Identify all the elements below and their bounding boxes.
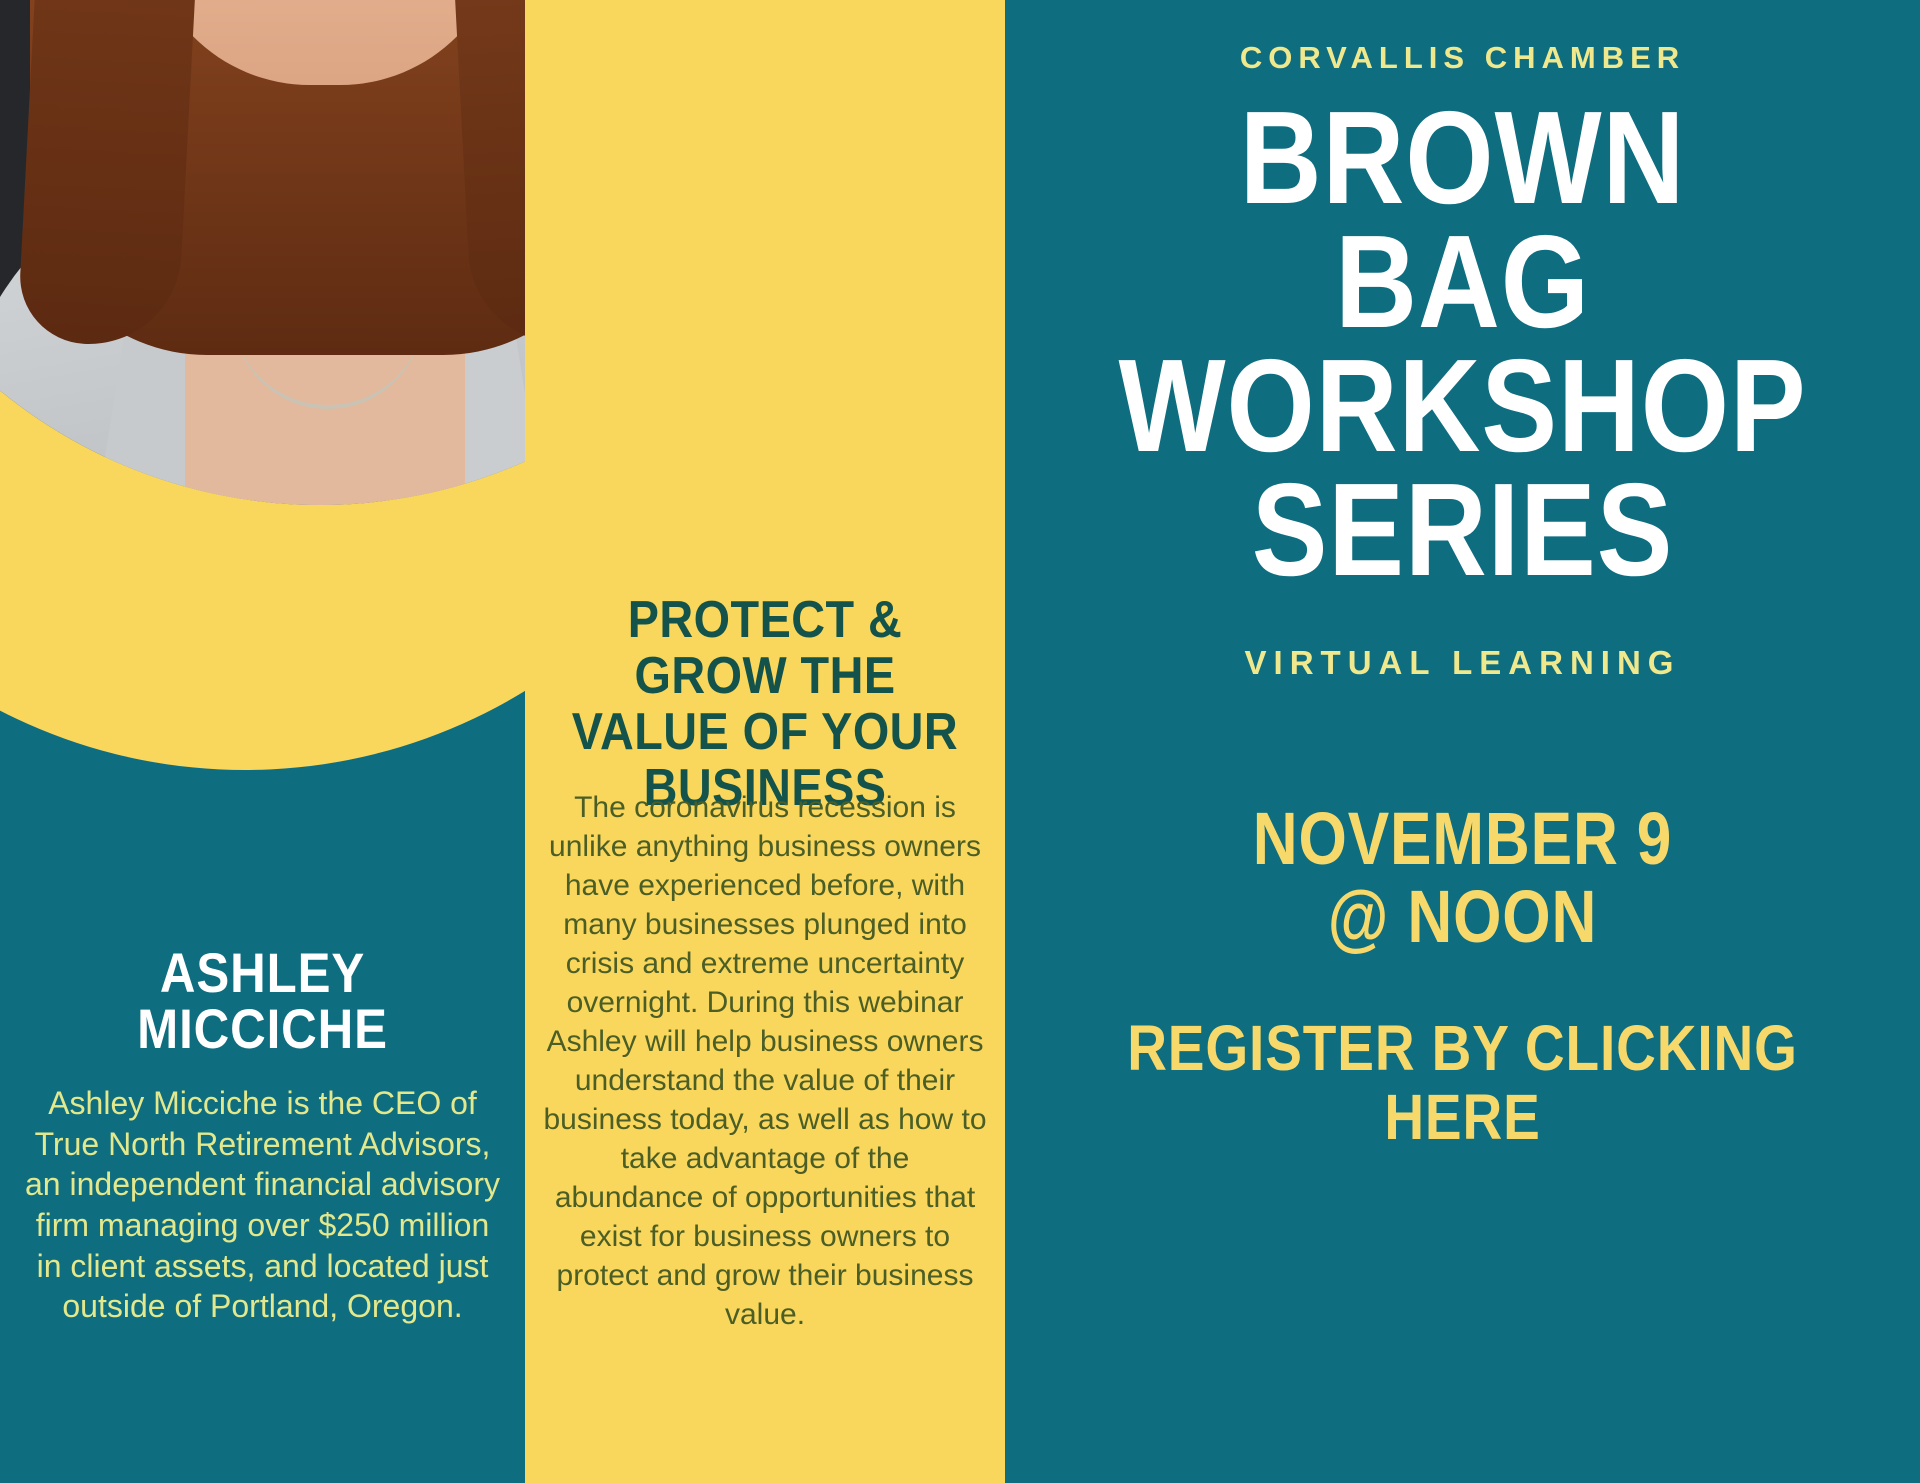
event-date: NOVEMBER 9 xyxy=(1078,800,1847,878)
photo-clip xyxy=(0,0,525,505)
register-link-line-2: HERE xyxy=(1095,1083,1830,1152)
speaker-column: ASHLEY MICCICHE Ashley Micciche is the C… xyxy=(0,0,525,1483)
speaker-bio: Ashley Micciche is the CEO of True North… xyxy=(22,1083,503,1327)
event-title-line-3: WORKSHOP xyxy=(1069,344,1856,468)
event-title-line-1: BROWN xyxy=(1069,96,1856,220)
speaker-headshot-image xyxy=(0,0,525,770)
speaker-photo-circle xyxy=(0,0,525,770)
organization-name: CORVALLIS CHAMBER xyxy=(1005,40,1920,76)
speaker-info: ASHLEY MICCICHE Ashley Micciche is the C… xyxy=(0,945,525,1327)
event-title-line-2: BAG xyxy=(1069,220,1856,344)
event-title-line-4: SERIES xyxy=(1069,468,1856,592)
register-link[interactable]: REGISTER BY CLICKING HERE xyxy=(1069,1014,1856,1152)
event-column: CORVALLIS CHAMBER BROWN BAG WORKSHOP SER… xyxy=(1005,0,1920,1483)
event-datetime: NOVEMBER 9 @ NOON xyxy=(1078,800,1847,957)
event-title: BROWN BAG WORKSHOP SERIES xyxy=(1069,96,1856,592)
event-time: @ NOON xyxy=(1078,878,1847,956)
topic-description: The coronavirus recession is unlike anyt… xyxy=(525,788,1005,1334)
register-link-line-1: REGISTER BY CLICKING xyxy=(1095,1014,1830,1083)
topic-column: PROTECT & GROW THE VALUE OF YOUR BUSINES… xyxy=(525,0,1005,1483)
event-format: VIRTUAL LEARNING xyxy=(1005,644,1920,682)
event-flyer: ASHLEY MICCICHE Ashley Micciche is the C… xyxy=(0,0,1920,1483)
speaker-name: ASHLEY MICCICHE xyxy=(51,945,474,1057)
topic-heading: PROTECT & GROW THE VALUE OF YOUR BUSINES… xyxy=(549,592,981,817)
